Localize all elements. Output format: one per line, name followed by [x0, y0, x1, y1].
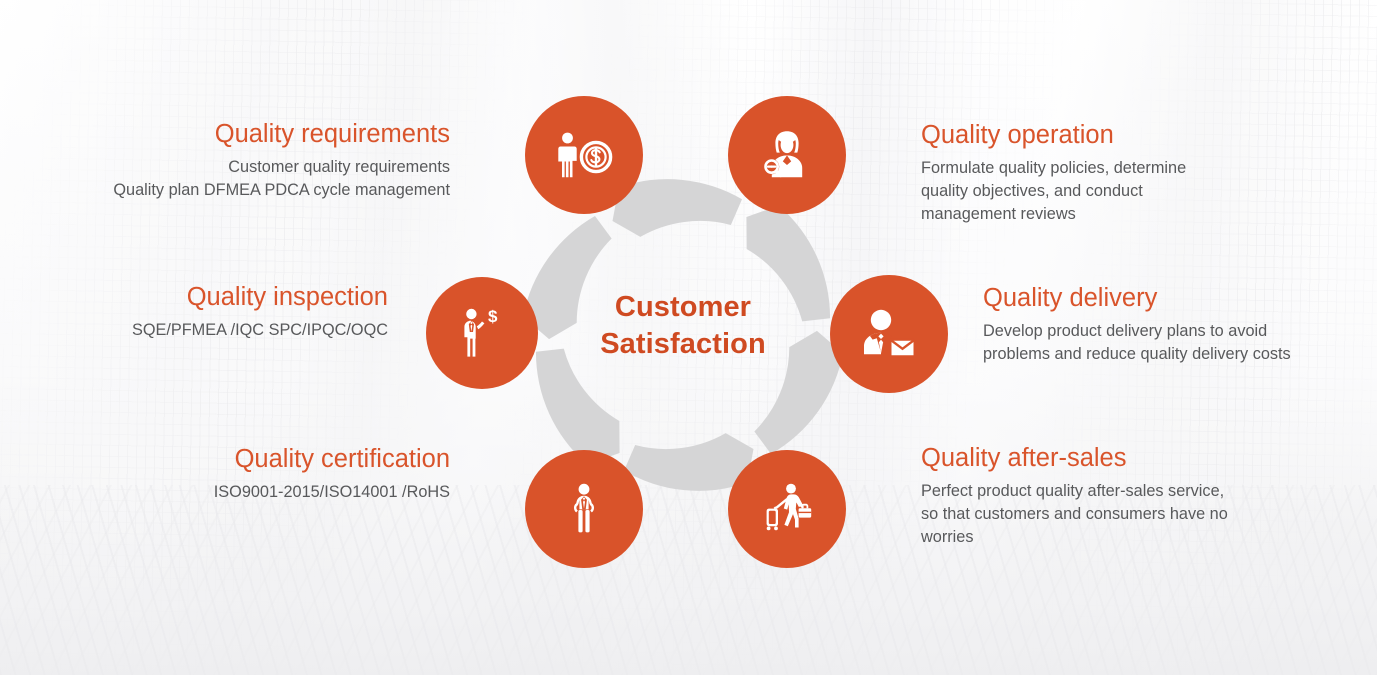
- woman-with-magnifier-icon: [758, 129, 816, 181]
- node-circle-quality-requirements[interactable]: [525, 96, 643, 214]
- node-circle-quality-certification[interactable]: [525, 450, 643, 568]
- title-quality-inspection: Quality inspection: [0, 283, 388, 312]
- text-block-quality-certification: Quality certification ISO9001-2015/ISO14…: [0, 445, 450, 504]
- person-with-envelope-icon: [859, 309, 919, 359]
- node-circle-quality-delivery[interactable]: [830, 275, 948, 393]
- center-label-line1: Customer: [561, 289, 805, 326]
- text-block-quality-operation: Quality operation Formulate quality poli…: [921, 121, 1351, 226]
- node-circle-quality-inspection[interactable]: $: [426, 277, 538, 389]
- person-holding-dollar-icon: $: [456, 308, 508, 358]
- body-quality-requirements: Customer quality requirements Quality pl…: [0, 156, 450, 202]
- title-quality-certification: Quality certification: [0, 445, 450, 474]
- title-quality-after-sales: Quality after-sales: [921, 444, 1351, 473]
- title-quality-operation: Quality operation: [921, 121, 1351, 150]
- body-quality-inspection: SQE/PFMEA /IQC SPC/IPQC/OQC: [0, 319, 388, 342]
- ring-arrow-segment: [536, 349, 620, 465]
- text-block-quality-after-sales: Quality after-sales Perfect product qual…: [921, 444, 1351, 549]
- text-block-quality-inspection: Quality inspection SQE/PFMEA /IQC SPC/IP…: [0, 283, 388, 342]
- title-quality-requirements: Quality requirements: [0, 120, 450, 149]
- svg-text:$: $: [488, 308, 498, 326]
- body-quality-delivery: Develop product delivery plans to avoid …: [983, 320, 1377, 366]
- center-label: Customer Satisfaction: [561, 289, 805, 363]
- center-label-line2: Satisfaction: [561, 326, 805, 363]
- body-quality-after-sales: Perfect product quality after-sales serv…: [921, 480, 1351, 549]
- body-quality-operation: Formulate quality policies, determine qu…: [921, 157, 1351, 226]
- title-quality-delivery: Quality delivery: [983, 284, 1377, 313]
- text-block-quality-delivery: Quality delivery Develop product deliver…: [983, 284, 1377, 366]
- node-circle-quality-operation[interactable]: [728, 96, 846, 214]
- node-circle-quality-after-sales[interactable]: [728, 450, 846, 568]
- text-block-quality-requirements: Quality requirements Customer quality re…: [0, 120, 450, 202]
- body-quality-certification: ISO9001-2015/ISO14001 /RoHS: [0, 481, 450, 504]
- traveler-with-luggage-icon: [758, 483, 816, 535]
- standing-businessman-icon: [566, 483, 602, 535]
- person-with-coin-icon: [554, 132, 614, 178]
